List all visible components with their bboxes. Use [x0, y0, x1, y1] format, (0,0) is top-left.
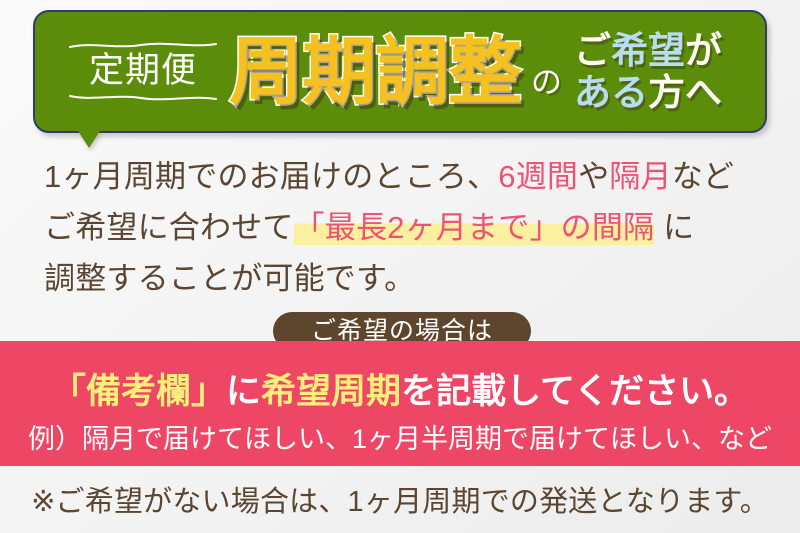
main-title: 周期調整 [229, 35, 521, 109]
audience-l2-suffix: 方へ [648, 72, 722, 113]
instruction-cycle-keyword: 希望周期 [261, 372, 401, 411]
body-l2-text-a: ご希望に合わせて [44, 210, 294, 245]
body-line-3: 調整することが可能です。 [44, 254, 774, 305]
subscription-tag-label: 定期便 [63, 53, 223, 90]
instruction-example: 例）隔月で届けてほしい、1ヶ月半周期で届けてほしい、など [0, 417, 800, 456]
speech-bubble-tail-icon [78, 131, 100, 148]
body-l1-text-b: や [578, 159, 609, 194]
body-l2-text-b: に [654, 210, 694, 245]
instruction-headline: 「備考欄」に希望周期を記載してください。 [0, 363, 800, 414]
body-paragraph: 1ヶ月周期でのお届けのところ、6週間や隔月など ご希望に合わせて「最長2ヶ月まで… [44, 152, 774, 305]
target-audience-line-1: ご希望が [574, 31, 722, 71]
promo-banner: 定期便 周期調整 の ご希望が ある方へ 1ヶ月周期でのお届けのところ、6週間や… [0, 0, 800, 533]
instruction-band: 「備考欄」に希望周期を記載してください。 例）隔月で届けてほしい、1ヶ月半周期で… [0, 341, 800, 466]
wavy-rule-bottom-icon [68, 93, 218, 102]
audience-l2-prefix: ある [574, 72, 648, 113]
target-audience-line-2: ある方へ [574, 73, 722, 113]
title-particle: の [531, 57, 562, 102]
body-l1-text-c: など [672, 159, 734, 194]
subscription-tag: 定期便 [63, 38, 223, 105]
wavy-rule-top-icon [68, 41, 218, 50]
audience-l1-prefix: ご [574, 30, 611, 71]
body-l2-highlight-max-interval: 「最長2ヶ月まで」の間隔 [294, 210, 655, 245]
body-line-2: ご希望に合わせて「最長2ヶ月まで」の間隔 に [44, 203, 774, 254]
header-content-row: 定期便 周期調整 の ご希望が ある方へ [35, 12, 769, 131]
instruction-text-a: に [226, 372, 261, 411]
body-l1-highlight-bimonthly: 隔月 [609, 159, 671, 194]
instruction-text-b: を記載してください。 [401, 372, 749, 411]
header-speech-bubble: 定期便 周期調整 の ご希望が ある方へ [33, 10, 767, 133]
instruction-field-name: 「備考欄」 [51, 372, 226, 411]
audience-l1-suffix: が [685, 30, 722, 71]
body-l1-highlight-6weeks: 6週間 [498, 159, 578, 194]
audience-l1-keyword: 希望 [611, 30, 685, 71]
target-audience-phrase: ご希望が ある方へ [574, 31, 722, 113]
body-line-1: 1ヶ月周期でのお届けのところ、6週間や隔月など [44, 152, 774, 203]
body-l1-text-a: 1ヶ月周期でのお届けのところ、 [44, 159, 498, 194]
footer-default-note: ※ご希望がない場合は、1ヶ月周期での発送となります。 [0, 478, 800, 520]
